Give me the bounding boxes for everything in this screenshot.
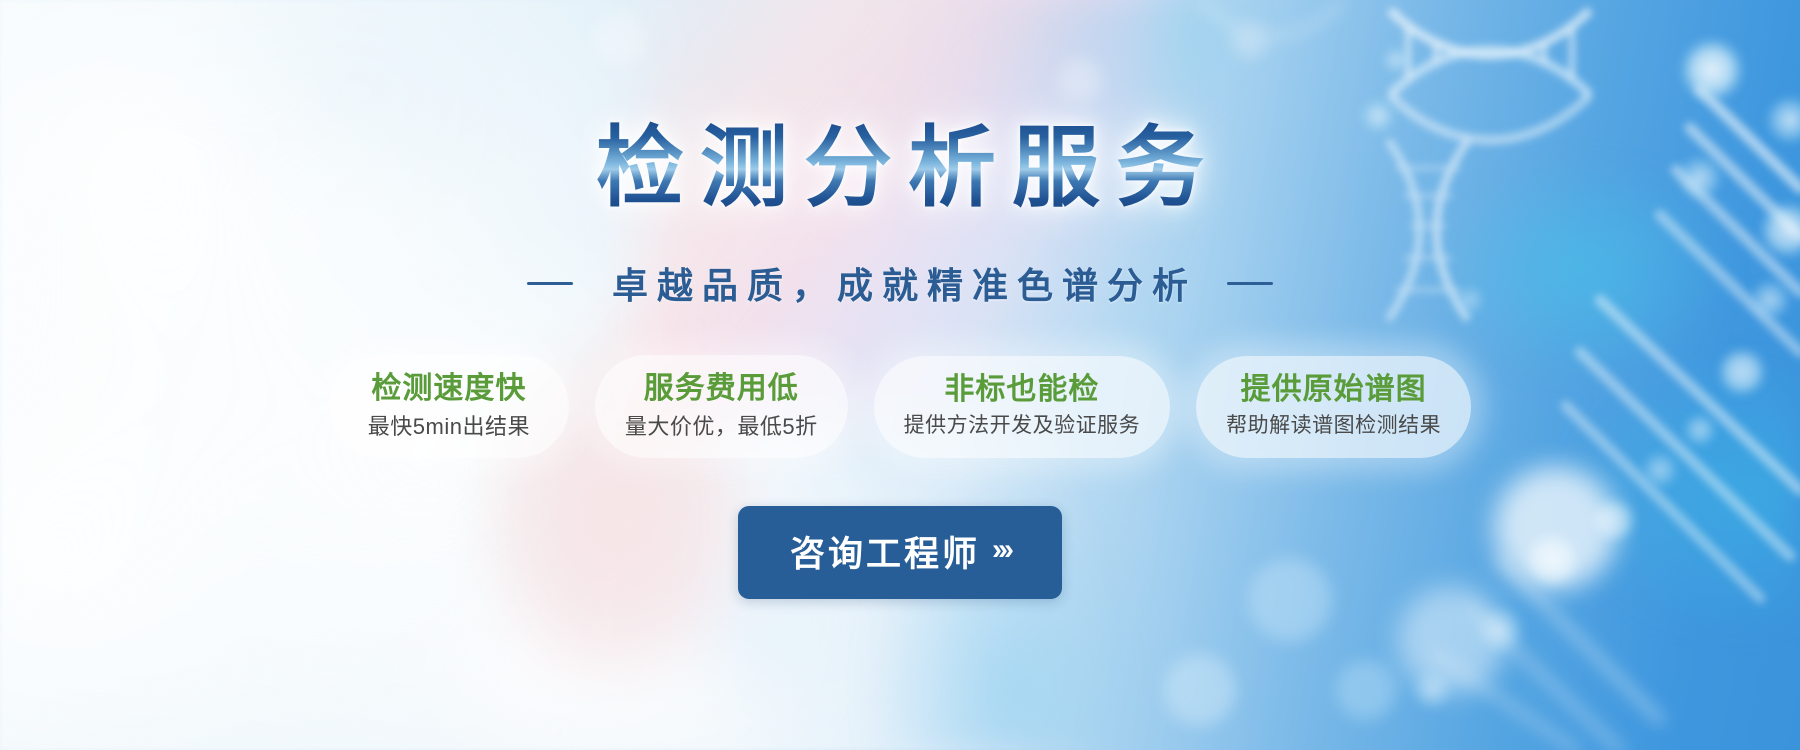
promo-banner: 检测分析服务 检测分析服务 卓越品质，成就精准色谱分析 检测速度快 最快5min… bbox=[0, 0, 1800, 750]
chevron-right-triple-icon: ››› bbox=[992, 533, 1010, 567]
feature-pill: 提供原始谱图 帮助解读谱图检测结果 bbox=[1196, 356, 1471, 458]
feature-pill: 检测速度快 最快5min出结果 bbox=[329, 355, 569, 458]
dash-right-icon bbox=[1227, 282, 1273, 285]
feature-pill: 服务费用低 量大价优，最低5折 bbox=[595, 355, 848, 458]
feature-pill-list: 检测速度快 最快5min出结果 服务费用低 量大价优，最低5折 非标也能检 提供… bbox=[329, 355, 1471, 458]
page-title: 检测分析服务 bbox=[580, 120, 1220, 215]
subtitle-row: 卓越品质，成就精准色谱分析 bbox=[527, 257, 1273, 309]
feature-pill-title: 非标也能检 bbox=[904, 372, 1141, 409]
feature-pill-subtitle: 提供方法开发及验证服务 bbox=[904, 413, 1141, 439]
page-subtitle: 卓越品质，成就精准色谱分析 bbox=[603, 257, 1197, 309]
consult-engineer-button[interactable]: 咨询工程师 ››› bbox=[738, 506, 1062, 599]
feature-pill-title: 提供原始谱图 bbox=[1226, 372, 1441, 409]
feature-pill-title: 服务费用低 bbox=[625, 371, 818, 408]
feature-pill-subtitle: 帮助解读谱图检测结果 bbox=[1226, 413, 1441, 439]
cta-label: 咨询工程师 bbox=[790, 526, 980, 577]
title-wrapper: 检测分析服务 检测分析服务 bbox=[580, 120, 1220, 215]
feature-pill: 非标也能检 提供方法开发及验证服务 bbox=[874, 356, 1171, 458]
feature-pill-subtitle: 量大价优，最低5折 bbox=[625, 413, 818, 441]
feature-pill-title: 检测速度快 bbox=[359, 371, 539, 408]
dash-left-icon bbox=[527, 282, 573, 285]
cta-wrapper: 咨询工程师 ››› bbox=[738, 506, 1062, 599]
banner-content: 检测分析服务 检测分析服务 卓越品质，成就精准色谱分析 检测速度快 最快5min… bbox=[0, 0, 1800, 750]
feature-pill-subtitle: 最快5min出结果 bbox=[359, 413, 539, 441]
